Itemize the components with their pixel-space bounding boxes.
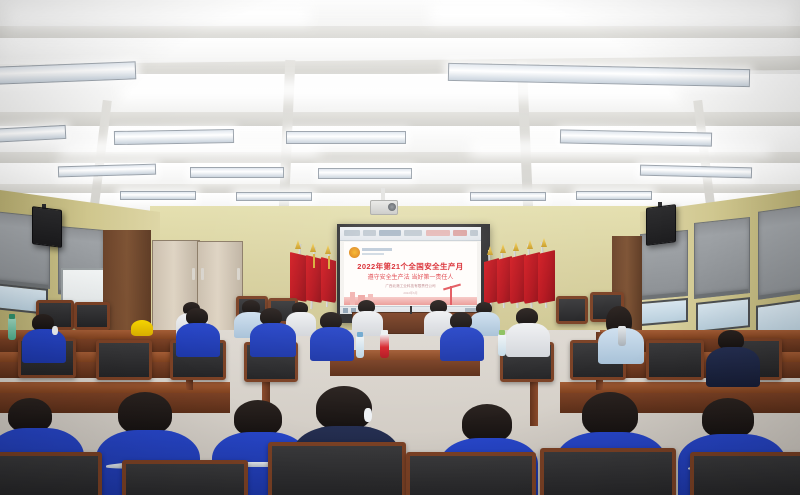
wall-speaker-right	[646, 204, 676, 246]
attendee-front-5-hair	[462, 404, 512, 442]
chair-distant-3[interactable]	[556, 296, 588, 324]
flag-tassel-left-3	[328, 256, 330, 269]
chair-mid-7[interactable]	[646, 340, 704, 380]
ceiling-beam-3	[0, 112, 800, 126]
flag-right-5	[538, 250, 555, 304]
chair-front-6[interactable]	[690, 452, 800, 495]
screen-app-tab-5	[426, 230, 450, 236]
window-right-2	[696, 297, 750, 333]
attendee-mid-5-torso	[440, 327, 484, 361]
door-handle-3[interactable]	[237, 268, 240, 280]
screen-app-tab-2	[363, 230, 376, 236]
flag-right-4	[524, 252, 540, 304]
crane-mast	[450, 286, 452, 305]
water-bottle-red-cap	[381, 330, 388, 335]
water-bottle-clear-cap	[357, 332, 363, 337]
flag-tassel-left-2	[313, 254, 315, 268]
door-handle-2[interactable]	[201, 268, 204, 280]
attendee-mid-8-torso	[706, 347, 760, 387]
ceiling-light-r2-3	[286, 131, 406, 144]
ceiling-glow-1	[10, 6, 310, 24]
door-handle-1[interactable]	[192, 268, 195, 280]
ceiling-beam-1	[0, 26, 800, 38]
flag-left-1	[290, 252, 307, 302]
emblem-caption	[362, 248, 392, 251]
desk-row-b-center-front	[330, 360, 480, 376]
chair-front-2[interactable]	[122, 460, 248, 495]
ceiling-light-r4-4	[576, 191, 652, 200]
ceiling-light-r3-2	[190, 167, 284, 178]
chair-wall-left-2[interactable]	[74, 302, 110, 330]
attendee-front-6-hair	[582, 392, 638, 436]
water-bottle-clear-2-cap	[499, 330, 505, 335]
slide-subtitle: 遵守安全生产法 当好第一责任人	[344, 274, 477, 282]
ceiling-light-r4-2	[236, 192, 312, 201]
screen-taskbar-icon-1	[343, 308, 348, 313]
water-bottle-clear-2[interactable]	[498, 334, 506, 356]
chair-front-4[interactable]	[406, 452, 536, 495]
podium-mic-icon	[410, 306, 412, 314]
roller-blind-4[interactable]	[694, 217, 750, 299]
attendee-mid-4-torso	[310, 327, 354, 361]
attendee-front-4-hair	[316, 386, 372, 430]
chair-front-3[interactable]	[268, 442, 406, 495]
city-building-1	[350, 292, 355, 305]
attendee-front-2-hair	[118, 392, 172, 434]
attendee-mid-2-torso	[176, 323, 220, 357]
window-right-1	[640, 298, 688, 326]
water-bottle-green-cap	[9, 314, 15, 319]
chair-front-5[interactable]	[540, 448, 676, 495]
thermos-silver[interactable]	[618, 326, 626, 346]
slide-body: 2022年第21个全国安全生产月 遵守安全生产法 当好第一责任人 广西北港工业科…	[344, 242, 477, 305]
flag-right-1	[484, 258, 499, 304]
screen-app-tab-6	[453, 230, 467, 236]
ceiling-light-r4-3	[470, 192, 546, 201]
water-bottle-green[interactable]	[8, 318, 16, 340]
water-bottle-clear[interactable]	[356, 336, 364, 358]
yellow-hard-hat[interactable]	[131, 320, 153, 336]
emblem-caption-2	[362, 253, 384, 255]
meeting-room-photo: 2022年第21个全国安全生产月 遵守安全生产法 当好第一责任人 广西北港工业科…	[0, 0, 800, 495]
screen-app-tab-7	[470, 230, 478, 236]
screen-app-tab-1	[344, 230, 360, 236]
chair-front-1[interactable]	[0, 452, 102, 495]
chair-mid-2[interactable]	[96, 340, 152, 380]
desk-row-c-left	[0, 382, 230, 393]
roller-blind-5[interactable]	[758, 204, 800, 300]
attendee-front-3-hair	[234, 400, 282, 436]
wall-speaker-left	[32, 206, 62, 248]
attendee-front-1-hair	[8, 398, 52, 432]
wood-wall-panel-left	[103, 230, 151, 334]
attendee-front-4-mask-strap	[364, 408, 372, 422]
slide-title: 2022年第21个全国安全生产月	[344, 262, 477, 271]
attendee-mid-1-torso	[22, 329, 66, 363]
ceiling-light-r4-1	[120, 191, 196, 200]
ceiling-light-r3-3	[318, 168, 412, 179]
ceiling-light-r2-2	[114, 129, 234, 145]
water-bottle-red[interactable]	[380, 334, 389, 358]
attendee-front-7-hair	[702, 398, 754, 438]
projector-lens-icon	[388, 203, 396, 211]
attendee-mid-6-torso	[506, 323, 550, 357]
safety-month-emblem	[349, 247, 360, 258]
ceiling-glow-2	[430, 2, 790, 24]
flag-right-2	[497, 256, 512, 304]
flag-right-3	[510, 254, 526, 304]
screen-app-tab-4	[404, 230, 422, 236]
screen-app-tab-3	[379, 230, 401, 236]
attendee-mid-1-mask	[52, 326, 58, 335]
attendee-mid-3-torso	[250, 323, 296, 357]
